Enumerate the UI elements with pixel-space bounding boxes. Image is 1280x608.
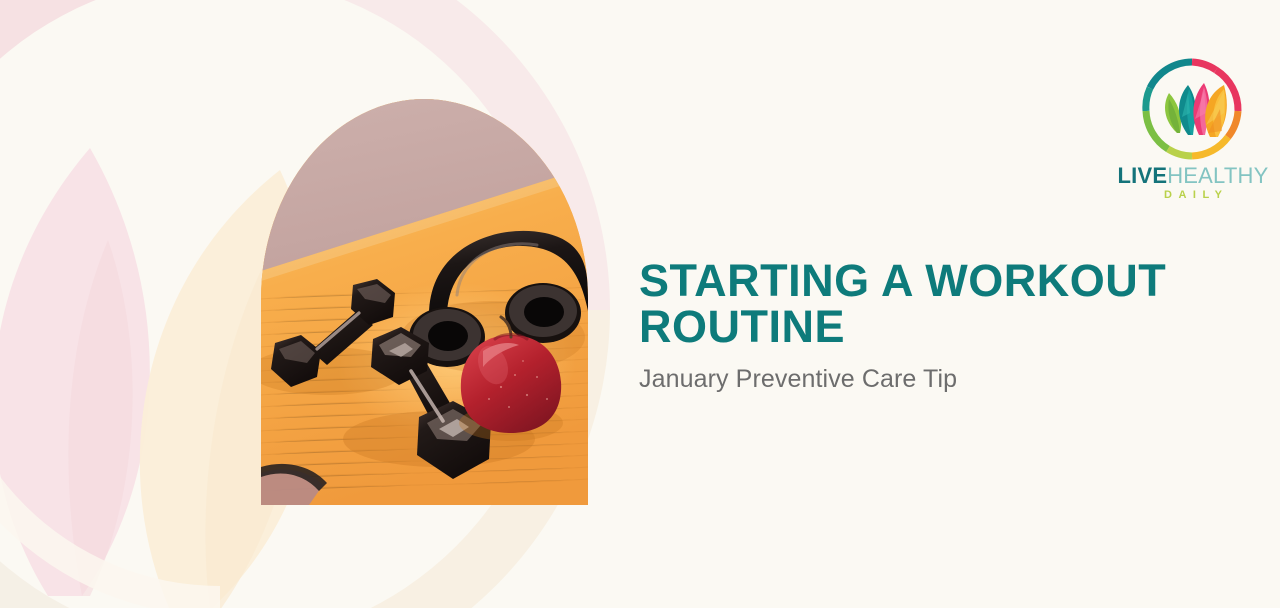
logo-word-live: LIVE [1118, 163, 1168, 188]
logo-wordmark: LIVEHEALTHY [1108, 163, 1278, 189]
page-title: Starting A Workout Routine [639, 258, 1229, 350]
headline-block: Starting A Workout Routine January Preve… [639, 258, 1239, 394]
logo-word-healthy: HEALTHY [1167, 163, 1268, 188]
workout-flatlay-photo [261, 99, 588, 505]
brand-logo[interactable]: LIVEHEALTHY DAILY [1108, 55, 1278, 205]
leaf-circle-logo-icon [1138, 55, 1246, 163]
logo-tagline: DAILY [1108, 189, 1278, 202]
watermark-inner-arc [0, 310, 220, 608]
promotional-banner: Starting A Workout Routine January Preve… [0, 0, 1280, 608]
page-subtitle: January Preventive Care Tip [639, 364, 1239, 394]
logo-leaves [1165, 83, 1227, 137]
